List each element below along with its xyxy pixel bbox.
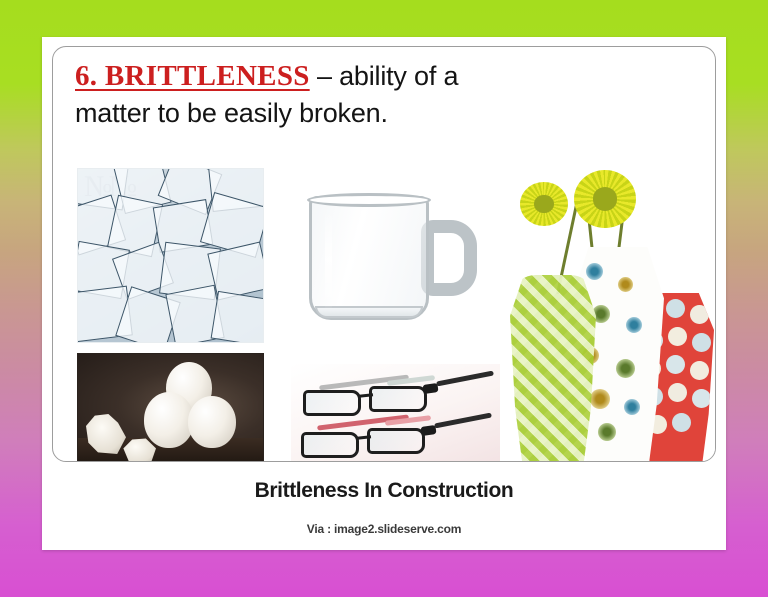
gerbera-bloom — [574, 170, 636, 228]
heading-definition-part-1: – ability of a — [310, 61, 459, 91]
photo-glass-mug — [291, 168, 481, 343]
egg — [188, 396, 236, 448]
photo-cracked-glass: №№ — [77, 168, 264, 343]
lens-left — [303, 390, 361, 416]
caption-title: Brittleness In Construction — [42, 479, 726, 503]
mug-highlight — [325, 210, 332, 310]
image-card: 6. BRITTLENESS – ability of a matter to … — [42, 37, 726, 550]
eyeglasses-pair-lower — [291, 416, 500, 458]
photo-decorative-vases — [500, 168, 715, 462]
eyeglasses-pair-upper — [291, 374, 500, 416]
photo-eggs — [77, 353, 264, 462]
heading-line-1: 6. BRITTLENESS – ability of a — [75, 59, 675, 93]
mug-rim — [307, 193, 431, 207]
heading-term: 6. BRITTLENESS — [75, 60, 310, 92]
caption-attribution: Via : image2.slideserve.com — [42, 522, 726, 536]
slide-panel: 6. BRITTLENESS – ability of a matter to … — [52, 46, 716, 462]
vase-green-lattice — [510, 275, 596, 461]
mug-handle — [421, 220, 477, 296]
temple-arm — [436, 371, 494, 387]
egg — [144, 392, 194, 448]
photo-eyeglasses — [291, 364, 500, 462]
lens-right — [369, 386, 427, 412]
gerbera-bloom — [520, 182, 568, 226]
slide-heading: 6. BRITTLENESS – ability of a matter to … — [75, 59, 675, 130]
glass-shard — [211, 291, 264, 343]
lens-right — [367, 428, 425, 454]
heading-definition-part-2: matter to be easily broken. — [75, 98, 675, 130]
lens-left — [301, 432, 359, 458]
